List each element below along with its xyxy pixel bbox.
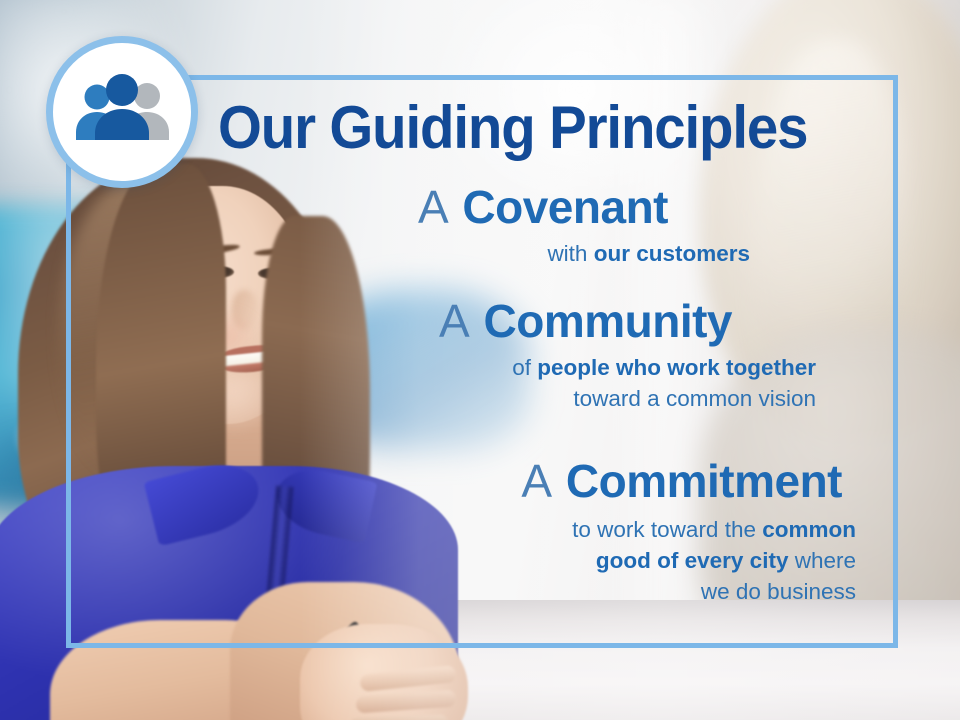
- principle-block-community: A Community of people who work togethert…: [439, 298, 732, 414]
- principle-heading-covenant: A Covenant: [418, 184, 668, 232]
- principle-block-commitment: A Commitment to work toward the commongo…: [521, 458, 842, 607]
- principle-subtext-covenant: with our customers: [418, 238, 750, 269]
- foreground-woman: FLOW FLOW: [0, 150, 470, 720]
- people-group-icon: [70, 74, 174, 150]
- principle-block-covenant: A Covenant with our customers: [418, 184, 668, 269]
- principle-keyword: Community: [484, 295, 733, 347]
- principle-article: A: [439, 295, 471, 347]
- principle-heading-community: A Community: [439, 298, 732, 346]
- principle-article: A: [418, 181, 450, 233]
- principle-subtext-community: of people who work togethertoward a comm…: [439, 352, 816, 414]
- principle-heading-commitment: A Commitment: [521, 458, 842, 506]
- guiding-principles-poster: FLOW FLOW Our Guidin: [0, 0, 960, 720]
- page-title: Our Guiding Principles: [218, 98, 838, 158]
- principle-keyword: Commitment: [566, 455, 842, 507]
- principle-keyword: Covenant: [462, 181, 668, 233]
- principle-subtext-commitment: to work toward the commongood of every c…: [521, 514, 856, 607]
- people-badge: [46, 36, 198, 188]
- principle-article: A: [521, 455, 553, 507]
